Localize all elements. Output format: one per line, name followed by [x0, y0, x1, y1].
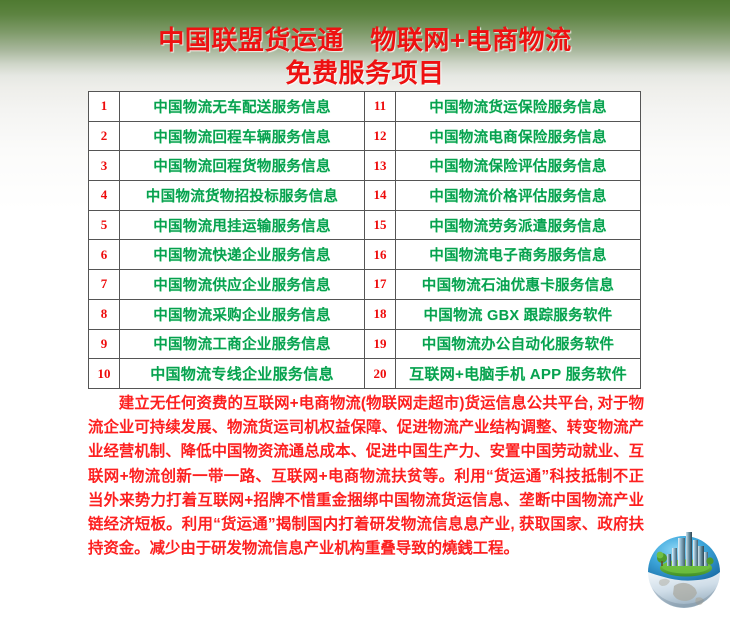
row-number-right: 13 [365, 151, 396, 181]
service-label-right: 中国物流电子商务服务信息 [396, 240, 641, 270]
row-number-right: 17 [365, 270, 396, 300]
row-number-left: 10 [89, 359, 120, 389]
table-row: 10中国物流专线企业服务信息20互联网+电脑手机 APP 服务软件 [89, 359, 641, 389]
row-number-left: 3 [89, 151, 120, 181]
service-label-left: 中国物流回程货物服务信息 [120, 151, 365, 181]
service-label-right: 中国物流电商保险服务信息 [396, 121, 641, 151]
row-number-left: 1 [89, 92, 120, 122]
earth-globe-with-city-skyline-icon [638, 524, 730, 620]
page-title: 中国联盟货运通 物联网+电商物流 免费服务项目 [0, 24, 730, 90]
service-label-right: 中国物流保险评估服务信息 [396, 151, 641, 181]
title-line-secondary: 免费服务项目 [0, 57, 730, 90]
row-number-left: 6 [89, 240, 120, 270]
service-label-left: 中国物流采购企业服务信息 [120, 299, 365, 329]
row-number-right: 18 [365, 299, 396, 329]
table-row: 3中国物流回程货物服务信息13中国物流保险评估服务信息 [89, 151, 641, 181]
title-line-primary: 中国联盟货运通 物联网+电商物流 [0, 24, 730, 57]
service-label-left: 中国物流回程车辆服务信息 [120, 121, 365, 151]
table-row: 6中国物流快递企业服务信息16中国物流电子商务服务信息 [89, 240, 641, 270]
service-label-right: 中国物流 GBX 跟踪服务软件 [396, 299, 641, 329]
service-label-right: 中国物流劳务派遣服务信息 [396, 210, 641, 240]
row-number-left: 2 [89, 121, 120, 151]
service-label-right: 中国物流价格评估服务信息 [396, 181, 641, 211]
service-label-left: 中国物流货物招投标服务信息 [120, 181, 365, 211]
service-label-left: 中国物流供应企业服务信息 [120, 270, 365, 300]
row-number-right: 16 [365, 240, 396, 270]
row-number-right: 15 [365, 210, 396, 240]
table-row: 4中国物流货物招投标服务信息14中国物流价格评估服务信息 [89, 181, 641, 211]
row-number-left: 7 [89, 270, 120, 300]
table-row: 7中国物流供应企业服务信息17中国物流石油优惠卡服务信息 [89, 270, 641, 300]
row-number-right: 14 [365, 181, 396, 211]
service-label-right: 中国物流货运保险服务信息 [396, 92, 641, 122]
table-row: 2中国物流回程车辆服务信息12中国物流电商保险服务信息 [89, 121, 641, 151]
service-items-table: 1中国物流无车配送服务信息11中国物流货运保险服务信息2中国物流回程车辆服务信息… [88, 91, 641, 389]
service-label-right: 中国物流办公自动化服务软件 [396, 329, 641, 359]
row-number-left: 9 [89, 329, 120, 359]
row-number-right: 11 [365, 92, 396, 122]
table-row: 5中国物流甩挂运输服务信息15中国物流劳务派遣服务信息 [89, 210, 641, 240]
service-label-left: 中国物流甩挂运输服务信息 [120, 210, 365, 240]
row-number-right: 12 [365, 121, 396, 151]
service-label-left: 中国物流工商企业服务信息 [120, 329, 365, 359]
service-label-right: 互联网+电脑手机 APP 服务软件 [396, 359, 641, 389]
table-row: 9中国物流工商企业服务信息19中国物流办公自动化服务软件 [89, 329, 641, 359]
body-paragraph: 建立无任何资费的互联网+电商物流(物联网走超市)货运信息公共平台, 对于物流企业… [88, 392, 644, 561]
row-number-left: 4 [89, 181, 120, 211]
row-number-right: 19 [365, 329, 396, 359]
service-label-left: 中国物流快递企业服务信息 [120, 240, 365, 270]
row-number-left: 8 [89, 299, 120, 329]
service-items-table-body: 1中国物流无车配送服务信息11中国物流货运保险服务信息2中国物流回程车辆服务信息… [89, 92, 641, 389]
service-label-left: 中国物流专线企业服务信息 [120, 359, 365, 389]
table-row: 1中国物流无车配送服务信息11中国物流货运保险服务信息 [89, 92, 641, 122]
table-row: 8中国物流采购企业服务信息18中国物流 GBX 跟踪服务软件 [89, 299, 641, 329]
service-label-left: 中国物流无车配送服务信息 [120, 92, 365, 122]
row-number-left: 5 [89, 210, 120, 240]
row-number-right: 20 [365, 359, 396, 389]
service-label-right: 中国物流石油优惠卡服务信息 [396, 270, 641, 300]
